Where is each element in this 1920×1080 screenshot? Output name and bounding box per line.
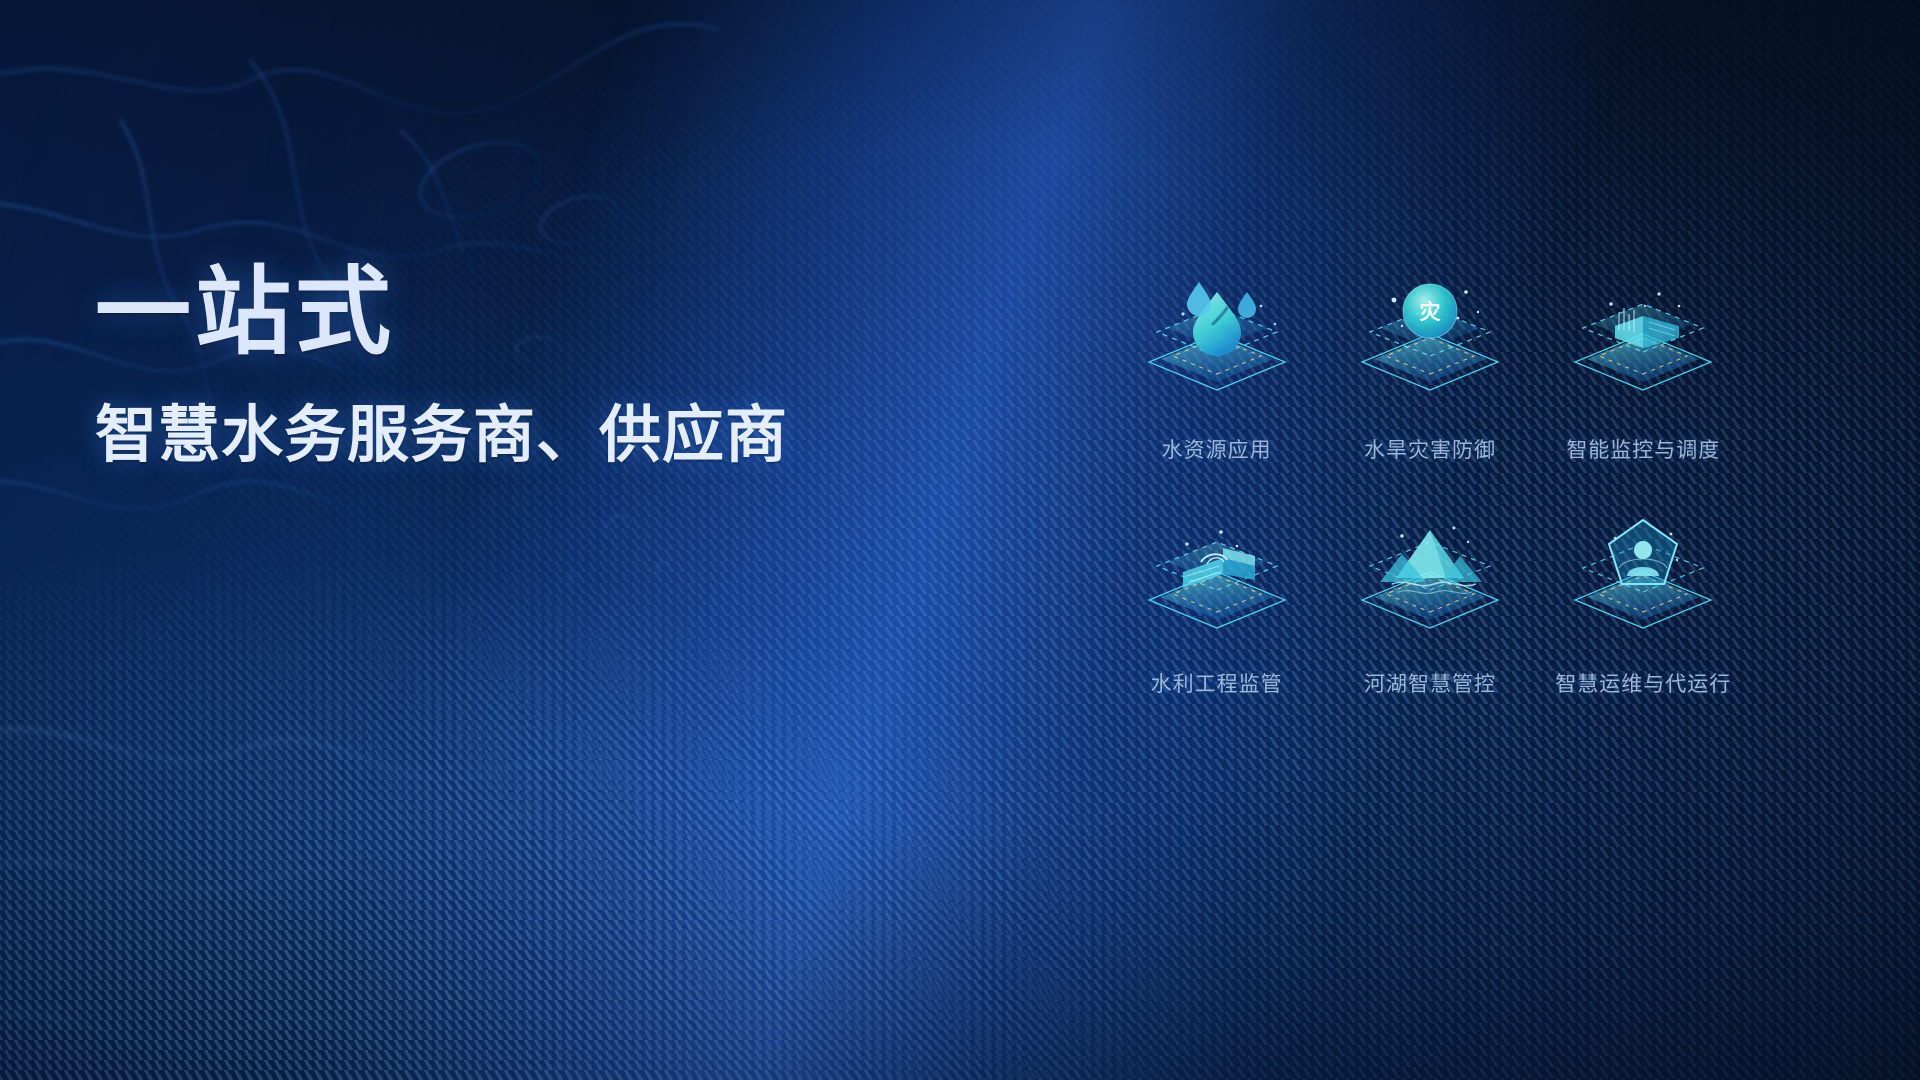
solution-label: 水利工程监管 — [1151, 668, 1283, 698]
solution-label: 智能监控与调度 — [1566, 434, 1720, 464]
disaster-badge-character: 灾 — [1419, 300, 1441, 324]
hydro-engineering-icon — [1127, 512, 1307, 662]
shield-operations-icon — [1553, 512, 1733, 662]
solution-label: 河湖智慧管控 — [1364, 668, 1496, 698]
water-drop-icon — [1127, 278, 1307, 428]
solution-card-smart-monitoring[interactable]: 智能监控与调度 — [1537, 278, 1750, 464]
river-lake-terrain-icon — [1340, 512, 1520, 662]
solution-label: 水旱灾害防御 — [1364, 434, 1496, 464]
solution-card-smart-operations[interactable]: 智慧运维与代运行 — [1537, 512, 1750, 698]
solution-grid: 水资源应用 — [1110, 278, 1750, 698]
solution-card-water-resource[interactable]: 水资源应用 — [1110, 278, 1323, 464]
monitoring-dam-icon — [1553, 278, 1733, 428]
solution-label: 智慧运维与代运行 — [1555, 668, 1731, 698]
solution-card-river-lake-control[interactable]: 河湖智慧管控 — [1323, 512, 1536, 698]
hero-copy: 一站式 智慧水务服务商、供应商 — [95, 262, 875, 470]
disaster-sphere-icon: 灾 — [1340, 278, 1520, 428]
hero-subheadline: 智慧水务服务商、供应商 — [95, 402, 875, 470]
hero-headline: 一站式 — [95, 262, 875, 364]
solution-card-hydro-engineering[interactable]: 水利工程监管 — [1110, 512, 1323, 698]
solution-label: 水资源应用 — [1162, 434, 1272, 464]
solution-card-flood-drought-defense[interactable]: 灾 水旱灾害防御 — [1323, 278, 1536, 464]
